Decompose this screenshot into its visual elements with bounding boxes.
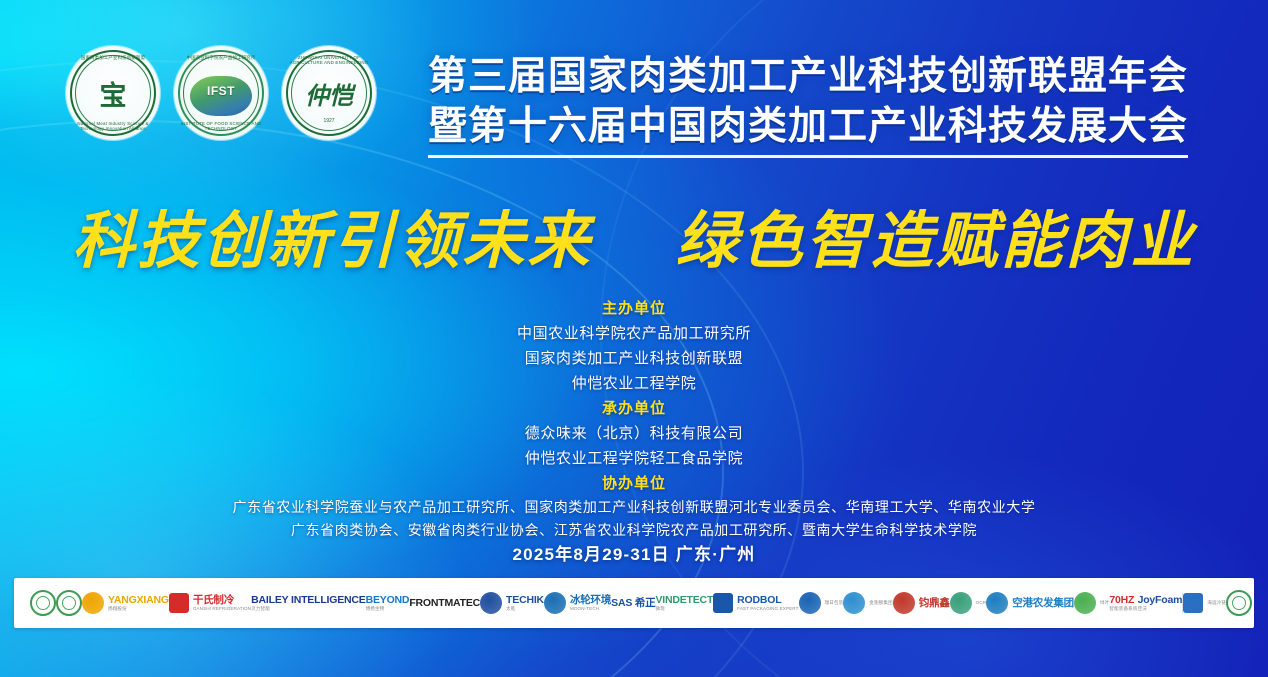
organizer-item: 国家肉类加工产业科技创新联盟 [0, 346, 1268, 371]
conference-banner: 国家肉类加工产业科技创新联盟 宝 National Meat Industry … [0, 0, 1268, 677]
sponsor-label-group: OCR [976, 600, 987, 606]
emblem-bottom-text: INSTITUTE OF FOOD SCIENCE AND TECHNOLOGY [174, 121, 268, 131]
sponsor-name: 空港农发集团 [1012, 598, 1074, 609]
ocr-logo: OCR [950, 592, 987, 614]
sponsor-subtitle: 太乾 [506, 607, 544, 612]
beyond-logo: BEYOND博扬生物 [366, 595, 410, 612]
sponsor-name: 冰轮环境 [570, 595, 611, 606]
national-meat-industry-alliance-emblem: 国家肉类加工产业科技创新联盟 宝 National Meat Industry … [66, 46, 160, 140]
sponsor-label-group: 海运冷链 [1207, 600, 1226, 606]
organizer-item: 德众味来（北京）科技有限公司 [0, 421, 1268, 446]
sponsor-label-group: BAILEY INTELLIGENCE贝力智能 [251, 595, 365, 612]
sponsor-label-group: SAS 希正 [611, 598, 655, 609]
emblem-year: 1927 [282, 118, 376, 124]
sponsor-label-group: 冰轮环境MOON-TECH [570, 595, 611, 612]
golden-wing-group-logo: 金翅膀集团 [843, 592, 892, 614]
sponsor-label-group: BEYOND博扬生物 [366, 595, 410, 612]
sponsor-subtitle: 贝力智能 [251, 607, 365, 612]
haiyun-logo: 海运冷链 [1183, 593, 1226, 613]
section-heading: 主办单位 [0, 296, 1268, 321]
sas-xizheng-logo: SAS 希正 [611, 598, 655, 609]
sponsor-subtitle: FAST PACKAGING EXPERT [737, 607, 798, 612]
bailey-intelligence-logo: BAILEY INTELLIGENCE贝力智能 [251, 595, 365, 612]
section-heading: 协办单位 [0, 471, 1268, 496]
slogan-right: 绿色智造赋能肉业 [676, 204, 1196, 277]
sponsor-subtitle: 瑞日包装 [825, 601, 844, 606]
sponsor-label-group: 干氏制冷GANSHI REFRIGERATION [193, 595, 251, 612]
sponsor-label-group: YANGXIANG扬翔股份 [108, 595, 169, 612]
sponsor-mark-icon [56, 590, 82, 616]
ganshi-refrigeration-logo: 干氏制冷GANSHI REFRIGERATION [169, 593, 251, 613]
sponsor-subtitle: 博扬生物 [366, 607, 410, 612]
organizer-item: 仲恺农业工程学院 [0, 371, 1268, 396]
moon-tech-logo: 冰轮环境MOON-TECH [544, 592, 611, 614]
sponsor-name: FRONTMATEC [409, 598, 480, 609]
sponsor-mark-icon [713, 593, 733, 613]
sponsor-mark-icon [950, 592, 972, 614]
sponsor-subtitle: OCR [976, 601, 987, 606]
sponsor-name: TECHIK [506, 595, 544, 606]
green-crest-logo [1226, 590, 1252, 616]
sponsor-label-group: 金翅膀集团 [869, 600, 892, 606]
sponsor-mark-icon [1074, 592, 1096, 614]
seventy-hz-logo: 70HZ智能装备系统 [1109, 595, 1137, 612]
sponsor-label-group: TECHIK太乾 [506, 595, 544, 612]
sponsor-subtitle: 绿叶 [1100, 601, 1109, 606]
sponsor-name: YANGXIANG [108, 595, 169, 606]
sponsor-name: 钧鼎鑫 [919, 598, 950, 609]
yangxiang-logo: YANGXIANG扬翔股份 [82, 592, 169, 614]
emblem-top-text: 中国农业科学院农产品加工研究所 [174, 55, 268, 61]
ruiri-packaging-logo: 瑞日包装 [799, 592, 844, 614]
green-leaf-logo: 绿叶 [1074, 592, 1109, 614]
slogan: 科技创新引领未来 绿色智造赋能肉业 [0, 198, 1268, 284]
sponsor-name: JoyFoam [1138, 595, 1183, 606]
emblem-glyph: IFST [174, 84, 268, 98]
sponsor-mark-icon [986, 592, 1008, 614]
sponsor-mark-icon [1183, 593, 1203, 613]
sponsor-mark-icon [480, 592, 502, 614]
sponsor-subtitle: GANSHI REFRIGERATION [193, 607, 251, 612]
jundingxin-logo: 钧鼎鑫 [893, 592, 950, 614]
sponsor-name: RODBOL [737, 595, 798, 606]
emblem-group: 国家肉类加工产业科技创新联盟 宝 National Meat Industry … [66, 46, 376, 140]
rodbol-logo: RODBOLFAST PACKAGING EXPERT [713, 593, 798, 613]
frontmatec-logo: FRONTMATEC [409, 598, 480, 609]
organizer-section-host: 主办单位 中国农业科学院农产品加工研究所 国家肉类加工产业科技创新联盟 仲恺农业… [0, 296, 1268, 396]
sponsor-name: BEYOND [366, 595, 410, 606]
section-heading: 承办单位 [0, 396, 1268, 421]
sponsor-label-group: 70HZ智能装备系统 [1109, 595, 1137, 612]
sponsor-label-group: VINDETECT微现 [655, 595, 713, 612]
organizer-section-undertaker: 承办单位 德众味来（北京）科技有限公司 仲恺农业工程学院轻工食品学院 [0, 396, 1268, 471]
green-seal-logo-1 [30, 590, 56, 616]
sponsor-subtitle: 扬翔股份 [108, 607, 169, 612]
sponsor-mark-icon [30, 590, 56, 616]
green-seal-logo-2 [56, 590, 82, 616]
sponsor-mark-icon [544, 592, 566, 614]
organizer-item: 广东省肉类协会、安徽省肉类行业协会、江苏省农业科学院农产品加工研究所、暨南大学生… [0, 519, 1268, 542]
sponsor-mark-icon [169, 593, 189, 613]
emblem-glyph: 仲恺 [282, 46, 376, 140]
sponsor-name: SAS 希正 [611, 598, 655, 609]
organizer-item: 广东省农业科学院蚕业与农产品加工研究所、国家肉类加工产业科技创新联盟河北专业委员… [0, 496, 1268, 519]
sponsor-subtitle: 海运冷链 [1207, 601, 1226, 606]
organizer-section-supporter: 协办单位 广东省农业科学院蚕业与农产品加工研究所、国家肉类加工产业科技创新联盟河… [0, 471, 1268, 542]
sponsor-mark-icon [82, 592, 104, 614]
emblem-bottom-text: National Meat Industry Science & Technol… [66, 121, 160, 131]
slogan-left: 科技创新引领未来 [72, 204, 592, 277]
sponsor-name: VINDETECT [655, 595, 713, 606]
sponsor-label-group: FRONTMATEC [409, 598, 480, 609]
sponsor-subtitle: MOON-TECH [570, 607, 611, 612]
title-block: 第三届国家肉类加工产业科技创新联盟年会 暨第十六届中国肉类加工产业科技发展大会 [408, 52, 1208, 158]
title-line-1: 第三届国家肉类加工产业科技创新联盟年会 [408, 52, 1208, 102]
joyfoam-logo: JoyFoam佳沃 [1138, 595, 1183, 612]
sponsor-subtitle: 智能装备系统 [1109, 607, 1137, 612]
sponsor-label-group: 瑞日包装 [825, 600, 844, 606]
sponsor-subtitle: 微现 [655, 607, 713, 612]
title-line-2: 暨第十六届中国肉类加工产业科技发展大会 [428, 102, 1188, 158]
sponsor-mark-icon [843, 592, 865, 614]
sponsor-label-group: 钧鼎鑫 [919, 598, 950, 609]
organizer-item: 仲恺农业工程学院轻工食品学院 [0, 446, 1268, 471]
sponsor-label-group: RODBOLFAST PACKAGING EXPERT [737, 595, 798, 612]
sponsor-name: BAILEY INTELLIGENCE [251, 595, 365, 606]
ifst-caas-emblem: 中国农业科学院农产品加工研究所 IFST INSTITUTE OF FOOD S… [174, 46, 268, 140]
sponsor-label-group: JoyFoam佳沃 [1138, 595, 1183, 612]
sponsor-subtitle: 金翅膀集团 [869, 601, 892, 606]
sponsor-label-group: 空港农发集团 [1012, 598, 1074, 609]
sponsor-name: 干氏制冷 [193, 595, 251, 606]
techik-logo: TECHIK太乾 [480, 592, 544, 614]
airport-agri-group-logo: 空港农发集团 [986, 592, 1074, 614]
zhongkai-university-emblem: ZHONGKAI UNIVERSITY OF AGRICULTURE AND E… [282, 46, 376, 140]
sponsor-mark-icon [1226, 590, 1252, 616]
sponsor-subtitle: 佳沃 [1138, 607, 1183, 612]
vindetect-logo: VINDETECT微现 [655, 595, 713, 612]
sponsor-strip: YANGXIANG扬翔股份干氏制冷GANSHI REFRIGERATIONBAI… [14, 578, 1254, 628]
organizer-item: 中国农业科学院农产品加工研究所 [0, 321, 1268, 346]
sponsor-mark-icon [799, 592, 821, 614]
sponsor-name: 70HZ [1109, 595, 1137, 606]
organizer-sections: 主办单位 中国农业科学院农产品加工研究所 国家肉类加工产业科技创新联盟 仲恺农业… [0, 296, 1268, 542]
sponsor-mark-icon [893, 592, 915, 614]
sponsor-label-group: 绿叶 [1100, 600, 1109, 606]
date-location: 2025年8月29-31日 广东·广州 [0, 540, 1268, 565]
